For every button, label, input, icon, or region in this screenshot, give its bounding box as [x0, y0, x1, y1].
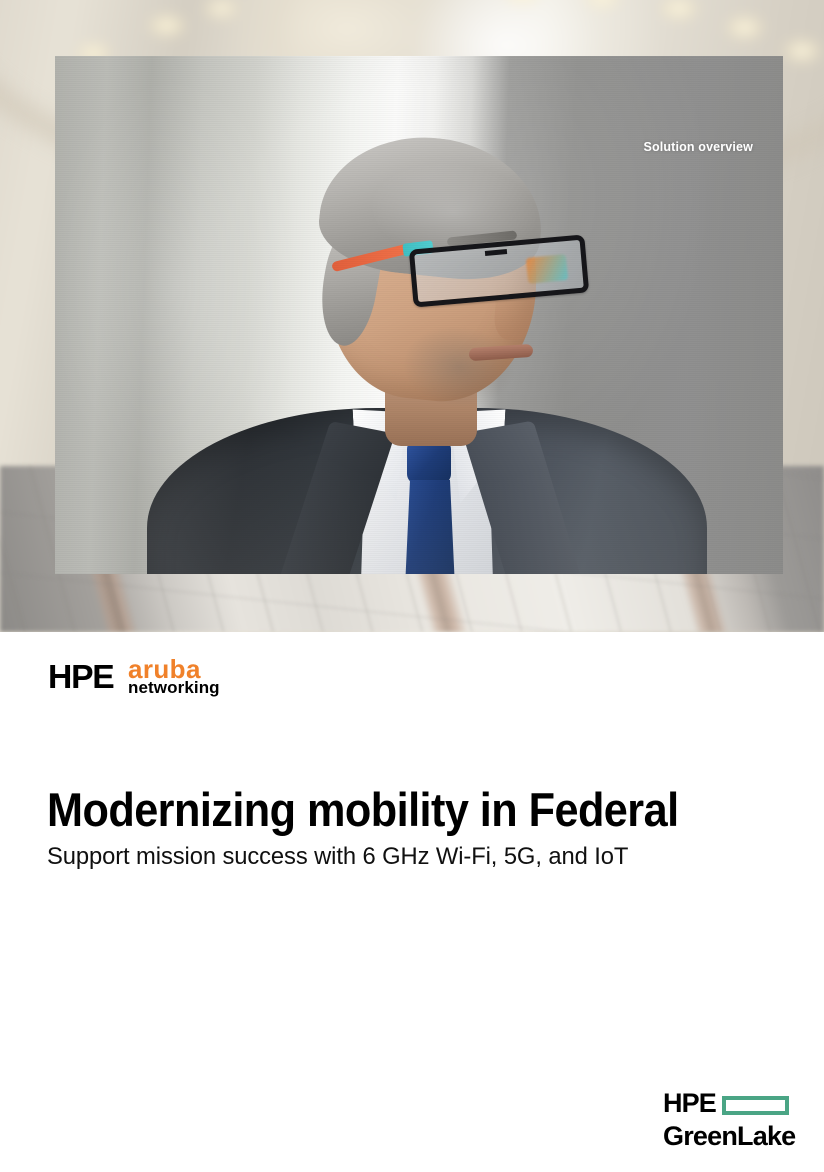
page-subtitle: Support mission success with 6 GHz Wi-Fi… [47, 841, 765, 873]
photo-subject-person [55, 56, 783, 574]
greenlake-wordmark: GreenLake [663, 1123, 795, 1150]
greenlake-logo-top-row: HPE [663, 1090, 793, 1120]
hpe-greenlake-logo: HPE GreenLake [663, 1090, 793, 1150]
cover-photo: Solution overview [55, 56, 783, 574]
hpe-green-rectangle-icon [722, 1096, 789, 1115]
page-title: Modernizing mobility in Federal [47, 784, 728, 836]
document-type-label: Solution overview [643, 140, 753, 154]
logo-networking-wordmark: networking [128, 679, 220, 696]
logo-hpe-wordmark: HPE [48, 660, 114, 693]
hero-banner: Solution overview [0, 0, 824, 632]
necktie-knot [407, 442, 451, 484]
eyeglasses-lens-reflection [526, 254, 568, 284]
necktie-body [405, 480, 455, 574]
hpe-aruba-networking-logo: HPE aruba networking [48, 660, 288, 704]
greenlake-hpe-wordmark: HPE [663, 1090, 716, 1117]
